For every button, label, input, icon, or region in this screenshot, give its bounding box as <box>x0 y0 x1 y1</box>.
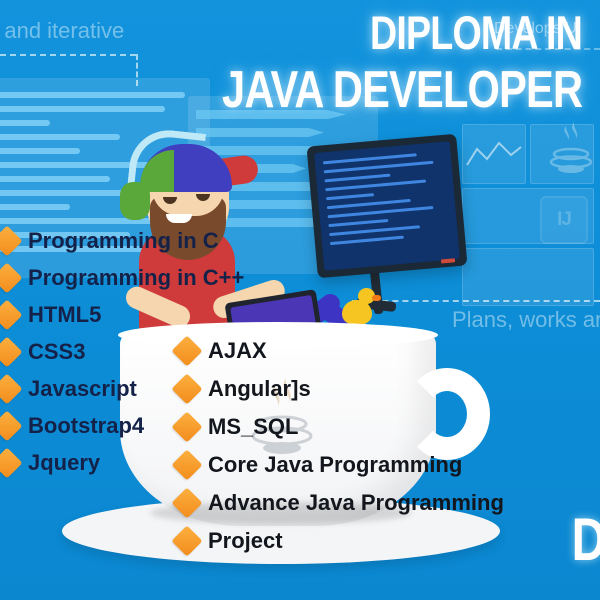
corner-letter: D <box>571 505 600 574</box>
course-label: Project <box>208 528 283 554</box>
monitor-power-led <box>441 258 455 263</box>
diamond-bullet-icon <box>0 262 23 293</box>
course-label: CSS3 <box>28 339 85 365</box>
monitor-icon <box>307 134 468 279</box>
diamond-bullet-icon <box>0 225 23 256</box>
course-label: MS_SQL <box>208 414 298 440</box>
headphone-earcup <box>120 182 150 220</box>
diamond-bullet-icon <box>171 449 202 480</box>
course-label: Core Java Programming <box>208 452 462 478</box>
poster-canvas: IJ e and iterative Develops U Plans, wor… <box>0 0 600 600</box>
diamond-bullet-icon <box>0 373 23 404</box>
diamond-bullet-icon <box>171 487 202 518</box>
list-item[interactable]: Programming in C <box>0 228 244 254</box>
list-item[interactable]: Advance Java Programming <box>176 490 504 516</box>
course-label: Programming in C <box>28 228 219 254</box>
list-item[interactable]: Core Java Programming <box>176 452 504 478</box>
list-item[interactable]: Angular]s <box>176 376 504 402</box>
diamond-bullet-icon <box>171 373 202 404</box>
diamond-bullet-icon <box>171 525 202 556</box>
course-label: Advance Java Programming <box>208 490 504 516</box>
diamond-bullet-icon <box>0 447 23 478</box>
diamond-bullet-icon <box>0 336 23 367</box>
list-item[interactable]: Project <box>176 528 504 554</box>
diamond-bullet-icon <box>0 410 23 441</box>
list-item[interactable]: MS_SQL <box>176 414 504 440</box>
diamond-bullet-icon <box>171 411 202 442</box>
course-label: HTML5 <box>28 302 101 328</box>
course-label: Jquery <box>28 450 100 476</box>
diamond-bullet-icon <box>0 299 23 330</box>
course-list-right: AJAX Angular]s MS_SQL Core Java Programm… <box>176 338 504 566</box>
diamond-bullet-icon <box>171 335 202 366</box>
course-label: AJAX <box>208 338 267 364</box>
list-item[interactable]: AJAX <box>176 338 504 364</box>
course-label: Javascript <box>28 376 137 402</box>
course-label: Programming in C++ <box>28 265 244 291</box>
list-item[interactable]: HTML5 <box>0 302 244 328</box>
monitor-screen <box>314 141 460 270</box>
rubber-duck-icon <box>342 300 372 324</box>
duck-beak <box>372 295 381 301</box>
list-item[interactable]: Programming in C++ <box>0 265 244 291</box>
course-label: Bootstrap4 <box>28 413 144 439</box>
course-label: Angular]s <box>208 376 311 402</box>
